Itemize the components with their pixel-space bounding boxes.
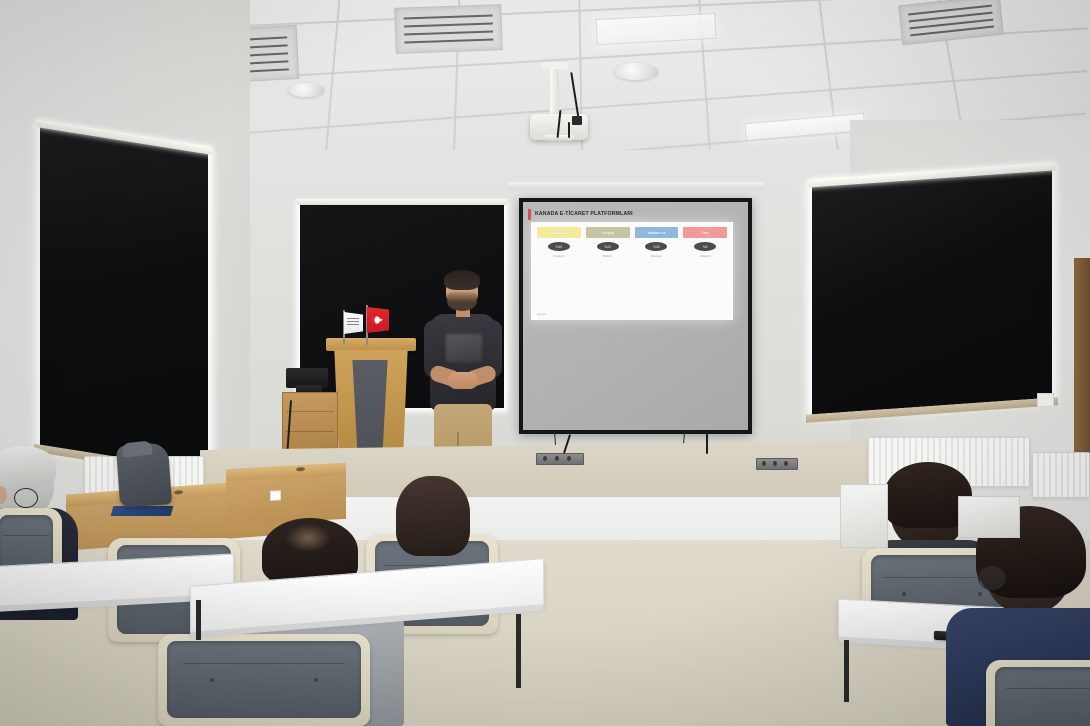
projector-port-block	[572, 116, 582, 125]
slide-card-sub: Pazaryeri	[700, 255, 711, 258]
flag-cloth	[344, 312, 363, 334]
projector-cable-b	[570, 72, 579, 120]
slide-card-sub: Pazaryeri	[553, 255, 564, 258]
projector-mount-plate	[542, 62, 568, 69]
slide-card: Etsy %8 Pazaryeri	[683, 227, 727, 258]
projector-cable-c	[568, 122, 570, 138]
table-leg	[844, 640, 849, 702]
projector-mount-pole	[550, 66, 559, 116]
presentation-slide: KANADA E-TİCARET PLATFORMLARI Amazon.ca …	[531, 222, 733, 320]
slide-footer-text: Kaynak	[537, 313, 546, 316]
chair-backrest	[995, 667, 1090, 726]
storage-unit-right-a	[840, 484, 888, 548]
classroom-photo: KANADA E-TİCARET PLATFORMLARI Amazon.ca …	[0, 0, 1090, 726]
chair-stud	[314, 678, 318, 682]
slide-title-row: KANADA E-TİCARET PLATFORMLARI	[528, 208, 633, 220]
blue-folder-on-desk[interactable]	[111, 506, 174, 516]
attendee-bald-spot	[286, 524, 330, 552]
slide-card-percent: %45	[548, 242, 570, 251]
slide-card-label: Amazon.ca	[537, 227, 581, 238]
chair-backrest	[167, 641, 361, 718]
table-leg	[196, 600, 201, 640]
crescent-icon	[372, 316, 380, 324]
window-right-blind-bracket	[1037, 393, 1054, 407]
presenter-hair	[444, 270, 480, 290]
wall-cable-right	[706, 432, 708, 454]
window-right-blackout-blind[interactable]	[812, 170, 1052, 415]
chair-front-right[interactable]	[986, 660, 1090, 726]
window-left-blackout-blind[interactable]	[40, 127, 208, 472]
slide-card: Amazon.ca %45 Pazaryeri	[537, 227, 581, 258]
slide-accent-bar	[528, 209, 531, 220]
cabinet-drawer-line	[286, 431, 334, 432]
slide-card: Walmart.ca %18 Pazaryeri	[635, 227, 679, 258]
slide-card-sub: Pazaryeri	[651, 255, 662, 258]
slide-card-percent: %18	[645, 242, 667, 251]
attendee-center	[388, 478, 480, 568]
presenter-beard	[447, 292, 477, 311]
glasses-icon	[978, 566, 1006, 590]
window-left	[40, 127, 208, 472]
smoke-detector-left	[288, 83, 324, 97]
slide-card-percent: %22	[597, 242, 619, 251]
storage-unit-right-b	[958, 496, 1020, 538]
slide-card-percent: %8	[694, 242, 716, 251]
glasses-icon	[14, 488, 38, 508]
ceiling-projector	[530, 66, 588, 144]
window-center-blind-rail[interactable]	[297, 199, 507, 205]
chair-front-center[interactable]	[158, 634, 370, 726]
slide-card-label: Etsy	[683, 227, 727, 238]
slide-card-label: Walmart.ca	[635, 227, 679, 238]
slide-card-label: Shopify	[586, 227, 630, 238]
desk-label-tag	[270, 490, 281, 501]
wall-socket-right[interactable]	[756, 458, 798, 470]
table-leg	[516, 614, 521, 688]
flag-emblem	[347, 318, 359, 325]
slide-title: KANADA E-TİCARET PLATFORMLARI	[535, 211, 633, 217]
slide-card-row: Amazon.ca %45 Pazaryeri Shopify %22 Plat…	[537, 227, 727, 258]
door-frame-right[interactable]	[1074, 258, 1090, 463]
chair-stud	[902, 592, 906, 596]
projection-screen[interactable]: KANADA E-TİCARET PLATFORMLARI Amazon.ca …	[519, 198, 752, 434]
radiator-far-right	[1032, 452, 1090, 498]
slide-footer: Kaynak	[537, 313, 546, 316]
presenter-shirt-graphic	[446, 334, 482, 362]
flag-cloth	[367, 307, 389, 333]
attendee-hair	[396, 476, 470, 556]
smoke-detector-center	[614, 63, 658, 80]
window-right	[812, 170, 1052, 415]
hvac-vent-center	[394, 4, 503, 54]
attendee-hair	[0, 446, 56, 486]
slide-card: Shopify %22 Platform	[586, 227, 630, 258]
chair-stud	[210, 678, 214, 682]
projection-screen-surface: KANADA E-TİCARET PLATFORMLARI Amazon.ca …	[523, 202, 748, 430]
slide-card-sub: Platform	[603, 255, 613, 258]
institution-pennant-flag	[343, 310, 365, 344]
cabinet-drawer-line	[286, 411, 334, 412]
presenter-clasped-hands	[448, 372, 478, 389]
wall-socket-left[interactable]	[536, 453, 584, 465]
turkish-flag	[366, 305, 390, 345]
projection-screen-housing	[508, 182, 764, 190]
wood-desk-center	[226, 463, 346, 525]
